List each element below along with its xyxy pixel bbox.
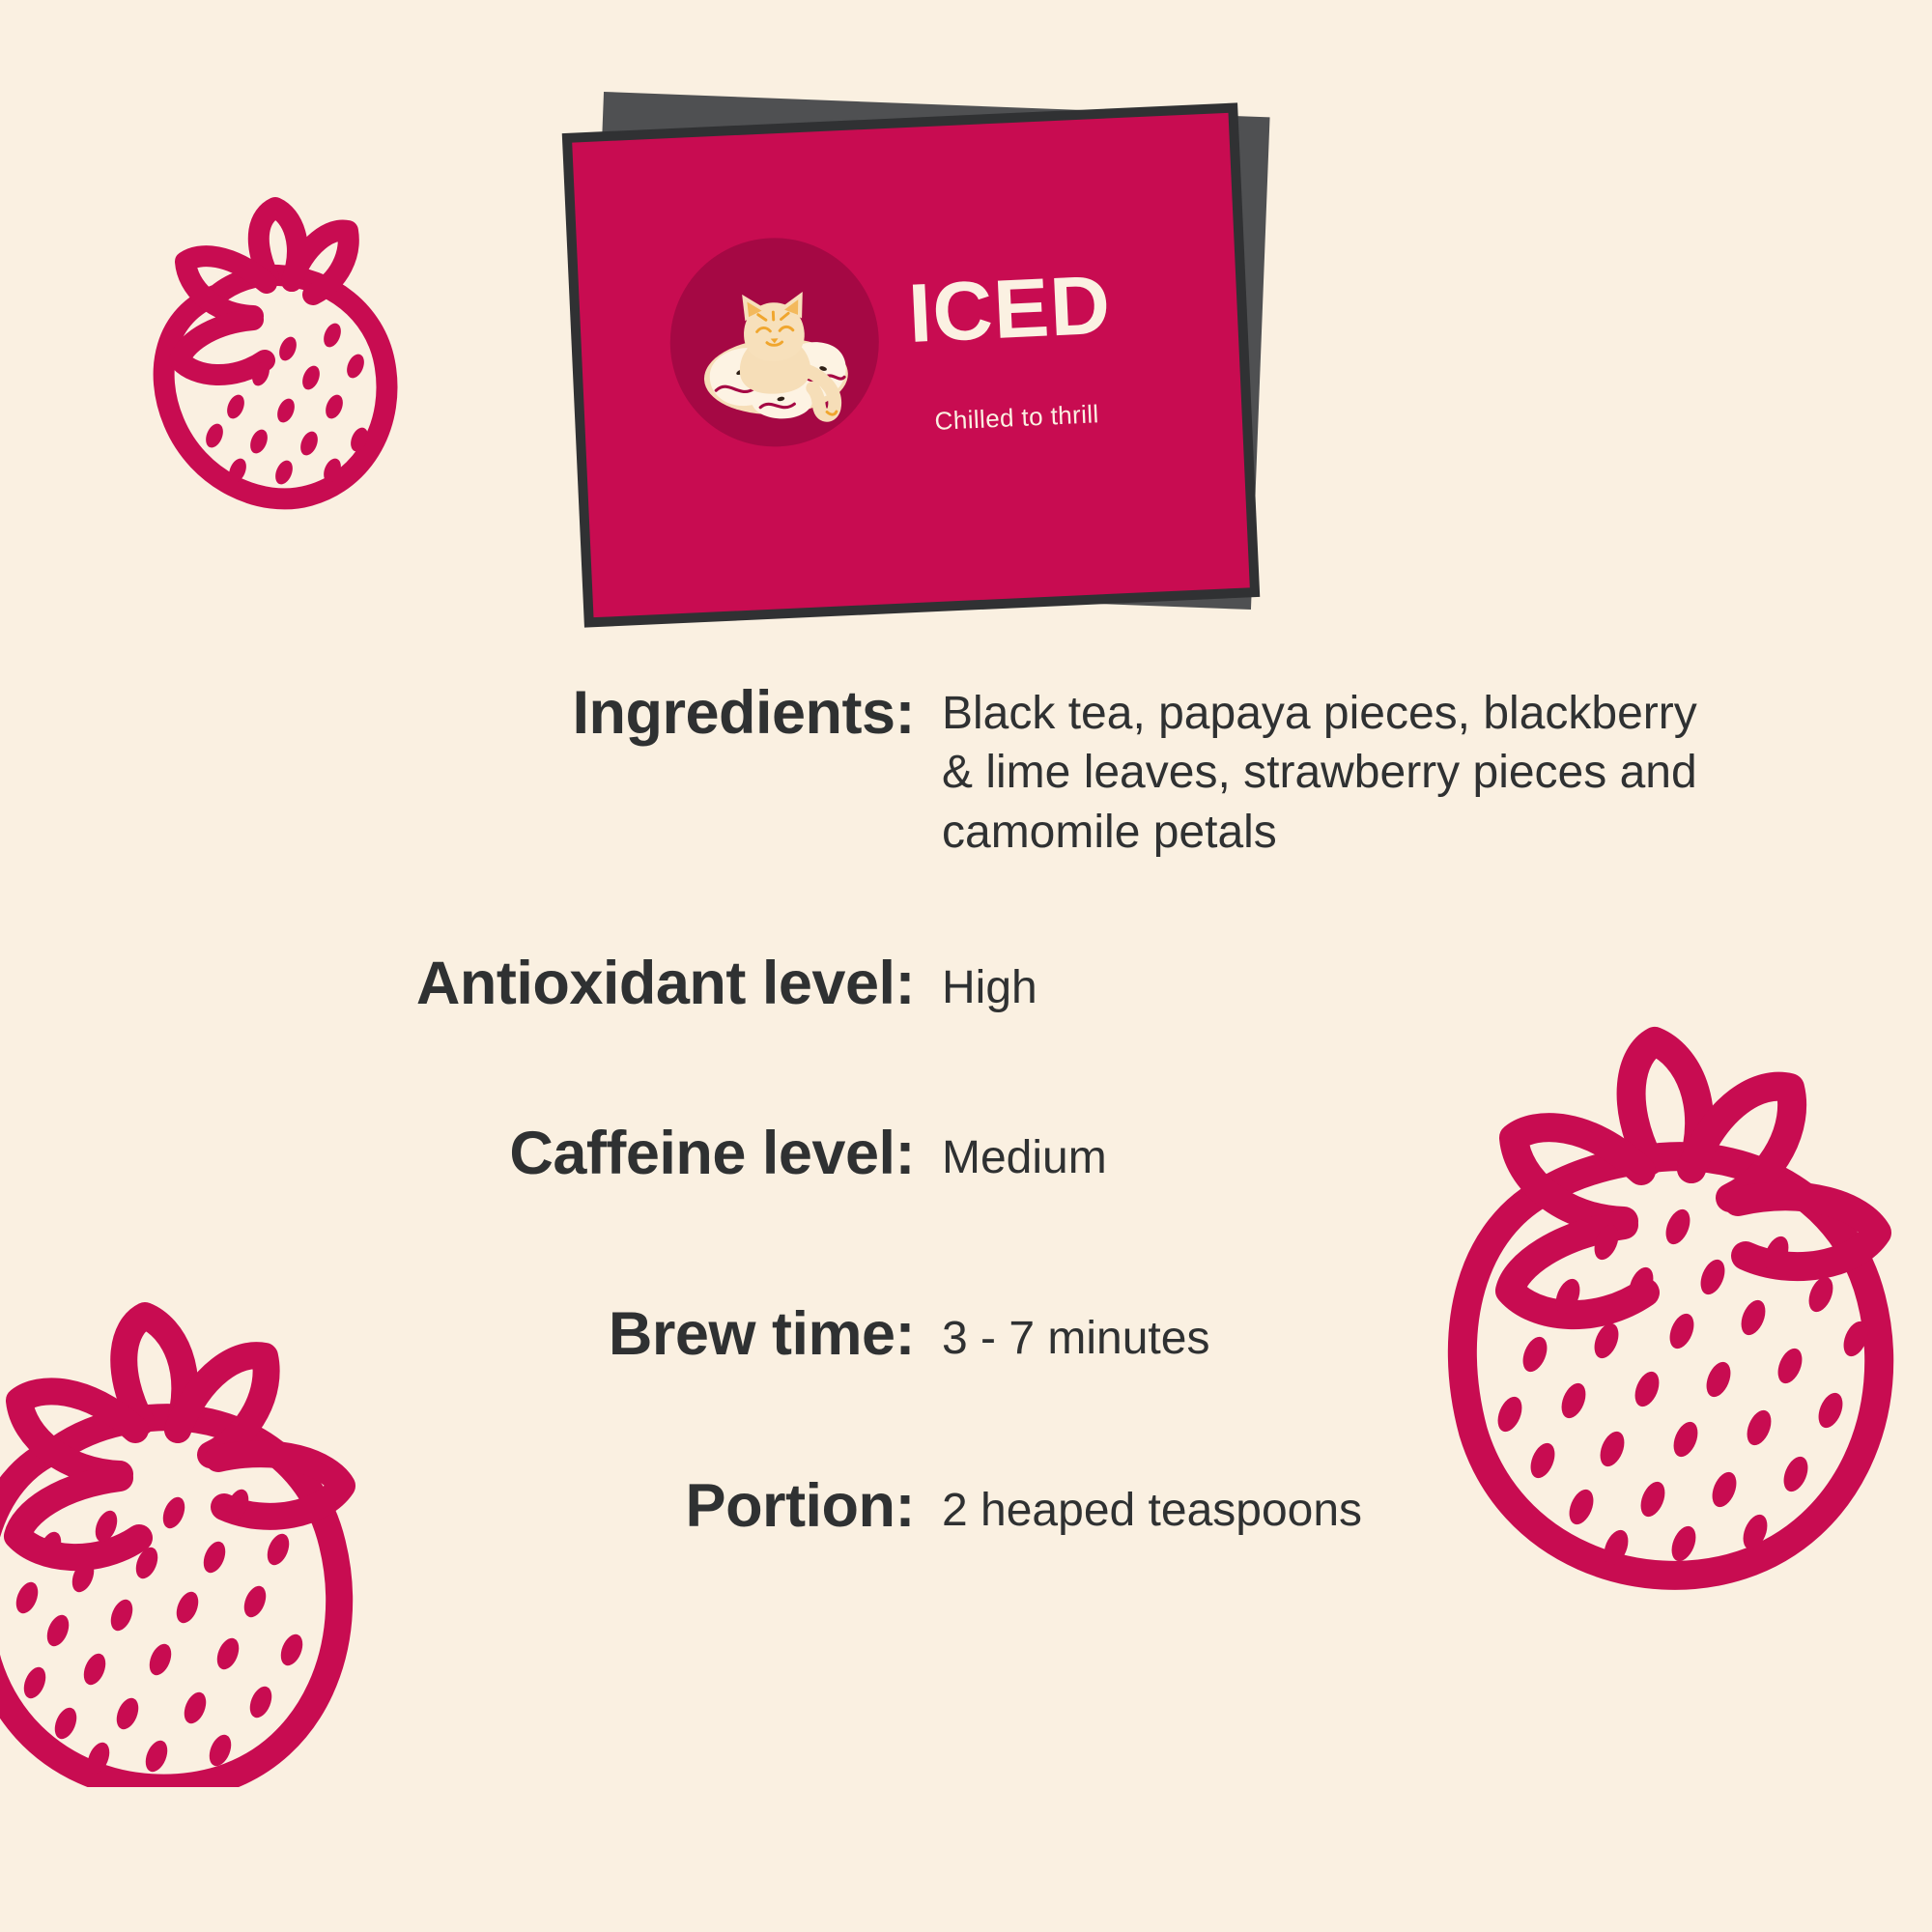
spec-value-ingredients: Black tea, papaya pieces, blackberry & l…	[942, 676, 1705, 862]
product-card-stack: ICED Chilled to thrill	[565, 97, 1261, 618]
spec-label-caffeine-level: Caffeine level:	[0, 1121, 942, 1186]
strawberry-icon-top-left	[106, 169, 435, 517]
spec-value-antioxidant-level: High	[942, 951, 1705, 1017]
card-front: ICED Chilled to thrill	[572, 113, 1250, 617]
spec-label-brew-time: Brew time:	[0, 1301, 942, 1367]
spec-row-antioxidant-level: Antioxidant level: High	[0, 951, 1932, 1017]
brand-title: ICED	[907, 264, 1113, 355]
brand-logo-circle	[666, 234, 884, 452]
tea-product-info-card: ICED Chilled to thrill Ingredients: Blac…	[0, 0, 1932, 1932]
spec-row-brew-time: Brew time: 3 - 7 minutes	[0, 1301, 1932, 1368]
spec-value-caffeine-level: Medium	[942, 1121, 1705, 1187]
spec-label-antioxidant-level: Antioxidant level:	[0, 951, 942, 1016]
spec-row-caffeine-level: Caffeine level: Medium	[0, 1121, 1932, 1187]
spec-value-brew-time: 3 - 7 minutes	[942, 1301, 1705, 1368]
spec-value-portion: 2 heaped teaspoons	[942, 1473, 1705, 1540]
cat-on-donut-icon	[675, 243, 873, 441]
spec-row-ingredients: Ingredients: Black tea, papaya pieces, b…	[0, 676, 1932, 862]
brand-tagline: Chilled to thrill	[934, 399, 1099, 437]
spec-row-portion: Portion: 2 heaped teaspoons	[0, 1473, 1932, 1540]
product-spec-list: Ingredients: Black tea, papaya pieces, b…	[0, 676, 1932, 1604]
spec-label-ingredients: Ingredients:	[0, 676, 942, 746]
spec-label-portion: Portion:	[0, 1473, 942, 1539]
